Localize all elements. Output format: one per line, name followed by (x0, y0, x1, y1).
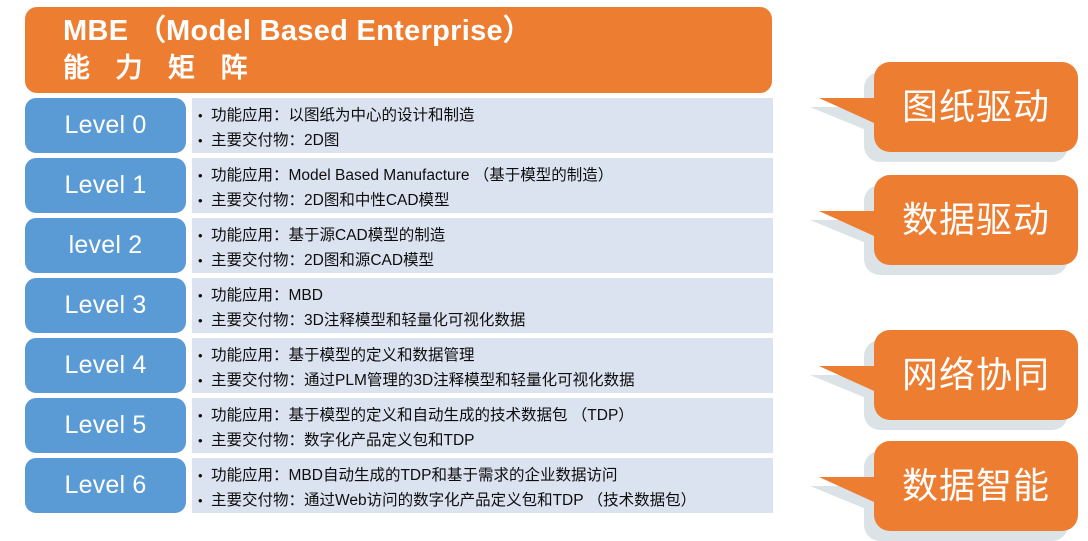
deliverable-bullet: •主要交付物：2D图和源CAD模型 (198, 248, 773, 273)
function-text: 功能应用：基于源CAD模型的制造 (211, 223, 445, 248)
level-chip-label: Level 0 (64, 112, 146, 139)
bullet-icon: • (198, 128, 211, 153)
level-content-3: •功能应用：MBD•主要交付物：3D注释模型和轻量化可视化数据 (192, 278, 773, 333)
bullet-icon: • (198, 343, 211, 368)
callout-label: 数据驱动 (902, 200, 1050, 240)
deliverable-text: 主要交付物：2D图和中性CAD模型 (211, 188, 450, 213)
function-bullet: •功能应用：基于源CAD模型的制造 (198, 223, 773, 248)
deliverable-text: 主要交付物：2D图和源CAD模型 (211, 248, 434, 273)
level-row: Level 4•功能应用：基于模型的定义和数据管理•主要交付物：通过PLM管理的… (0, 338, 790, 393)
callout-label: 数据智能 (902, 466, 1050, 506)
deliverable-text: 主要交付物：通过PLM管理的3D注释模型和轻量化可视化数据 (211, 368, 635, 393)
level-row: Level 0•功能应用：以图纸为中心的设计和制造•主要交付物：2D图 (0, 98, 790, 153)
function-bullet: •功能应用：MBD (198, 283, 773, 308)
bullet-icon: • (198, 428, 211, 453)
level-content-0: •功能应用：以图纸为中心的设计和制造•主要交付物：2D图 (192, 98, 773, 153)
function-text: 功能应用：基于模型的定义和数据管理 (211, 343, 475, 368)
level-chip-label: Level 6 (64, 472, 146, 499)
level-content-4: •功能应用：基于模型的定义和数据管理•主要交付物：通过PLM管理的3D注释模型和… (192, 338, 773, 393)
function-text: 功能应用：以图纸为中心的设计和制造 (211, 103, 475, 128)
deliverable-bullet: •主要交付物：通过Web访问的数字化产品定义包和TDP （技术数据包） (198, 488, 773, 513)
bullet-icon: • (198, 103, 211, 128)
level-chip-3[interactable]: Level 3 (25, 278, 186, 333)
level-content-6: •功能应用：MBD自动生成的TDP和基于需求的企业数据访问•主要交付物：通过We… (192, 458, 773, 513)
deliverable-text: 主要交付物：2D图 (211, 128, 339, 153)
deliverable-text: 主要交付物：通过Web访问的数字化产品定义包和TDP （技术数据包） (211, 488, 696, 513)
header-title-cn: 能 力 矩 阵 (63, 50, 772, 86)
level-chip-5[interactable]: Level 5 (25, 398, 186, 453)
deliverable-text: 主要交付物：3D注释模型和轻量化可视化数据 (211, 308, 525, 333)
function-bullet: •功能应用：以图纸为中心的设计和制造 (198, 103, 773, 128)
callout-0[interactable]: 图纸驱动 (874, 62, 1078, 152)
function-bullet: •功能应用：基于模型的定义和自动生成的技术数据包 （TDP） (198, 403, 773, 428)
function-text: 功能应用：MBD自动生成的TDP和基于需求的企业数据访问 (211, 463, 617, 488)
level-row: Level 5•功能应用：基于模型的定义和自动生成的技术数据包 （TDP）•主要… (0, 398, 790, 453)
deliverable-text: 主要交付物：数字化产品定义包和TDP (211, 428, 475, 453)
level-row: level 2•功能应用：基于源CAD模型的制造•主要交付物：2D图和源CAD模… (0, 218, 790, 273)
bullet-icon: • (198, 488, 211, 513)
header-banner: MBE （Model Based Enterprise） 能 力 矩 阵 (25, 7, 772, 93)
deliverable-bullet: •主要交付物：2D图和中性CAD模型 (198, 188, 773, 213)
callout-body: 数据驱动 (874, 175, 1078, 265)
bullet-icon: • (198, 248, 211, 273)
function-text: 功能应用：MBD (211, 283, 323, 308)
bullet-icon: • (198, 463, 211, 488)
level-content-5: •功能应用：基于模型的定义和自动生成的技术数据包 （TDP）•主要交付物：数字化… (192, 398, 773, 453)
deliverable-bullet: •主要交付物：3D注释模型和轻量化可视化数据 (198, 308, 773, 333)
bullet-icon: • (198, 188, 211, 213)
level-chip-2[interactable]: level 2 (25, 218, 186, 273)
slide-canvas: MBE （Model Based Enterprise） 能 力 矩 阵 Lev… (0, 0, 1088, 525)
deliverable-bullet: •主要交付物：通过PLM管理的3D注释模型和轻量化可视化数据 (198, 368, 773, 393)
level-row: Level 1•功能应用：Model Based Manufacture （基于… (0, 158, 790, 213)
deliverable-bullet: •主要交付物：数字化产品定义包和TDP (198, 428, 773, 453)
level-chip-6[interactable]: Level 6 (25, 458, 186, 513)
callout-label: 图纸驱动 (902, 87, 1050, 127)
callout-body: 网络协同 (874, 330, 1078, 420)
level-chip-label: level 2 (69, 232, 143, 259)
callout-label: 网络协同 (902, 355, 1050, 395)
callout-1[interactable]: 数据驱动 (874, 175, 1078, 265)
bullet-icon: • (198, 368, 211, 393)
callout-body: 数据智能 (874, 441, 1078, 531)
level-row: Level 3•功能应用：MBD•主要交付物：3D注释模型和轻量化可视化数据 (0, 278, 790, 333)
level-chip-4[interactable]: Level 4 (25, 338, 186, 393)
bullet-icon: • (198, 163, 211, 188)
level-chip-label: Level 5 (64, 412, 146, 439)
callout-2[interactable]: 网络协同 (874, 330, 1078, 420)
bullet-icon: • (198, 308, 211, 333)
header-title-en: MBE （Model Based Enterprise） (63, 13, 772, 50)
level-chip-label: Level 4 (64, 352, 146, 379)
deliverable-bullet: •主要交付物：2D图 (198, 128, 773, 153)
level-chip-label: Level 3 (64, 292, 146, 319)
bullet-icon: • (198, 403, 211, 428)
level-content-2: •功能应用：基于源CAD模型的制造•主要交付物：2D图和源CAD模型 (192, 218, 773, 273)
level-chip-label: Level 1 (64, 172, 146, 199)
function-bullet: •功能应用：MBD自动生成的TDP和基于需求的企业数据访问 (198, 463, 773, 488)
level-row: Level 6•功能应用：MBD自动生成的TDP和基于需求的企业数据访问•主要交… (0, 458, 790, 513)
level-content-1: •功能应用：Model Based Manufacture （基于模型的制造）•… (192, 158, 773, 213)
level-chip-0[interactable]: Level 0 (25, 98, 186, 153)
function-text: 功能应用：基于模型的定义和自动生成的技术数据包 （TDP） (211, 403, 634, 428)
function-text: 功能应用：Model Based Manufacture （基于模型的制造） (211, 163, 613, 188)
callout-3[interactable]: 数据智能 (874, 441, 1078, 531)
bullet-icon: • (198, 283, 211, 308)
function-bullet: •功能应用：基于模型的定义和数据管理 (198, 343, 773, 368)
bullet-icon: • (198, 223, 211, 248)
callout-body: 图纸驱动 (874, 62, 1078, 152)
function-bullet: •功能应用：Model Based Manufacture （基于模型的制造） (198, 163, 773, 188)
capability-matrix: Level 0•功能应用：以图纸为中心的设计和制造•主要交付物：2D图Level… (0, 98, 790, 518)
level-chip-1[interactable]: Level 1 (25, 158, 186, 213)
